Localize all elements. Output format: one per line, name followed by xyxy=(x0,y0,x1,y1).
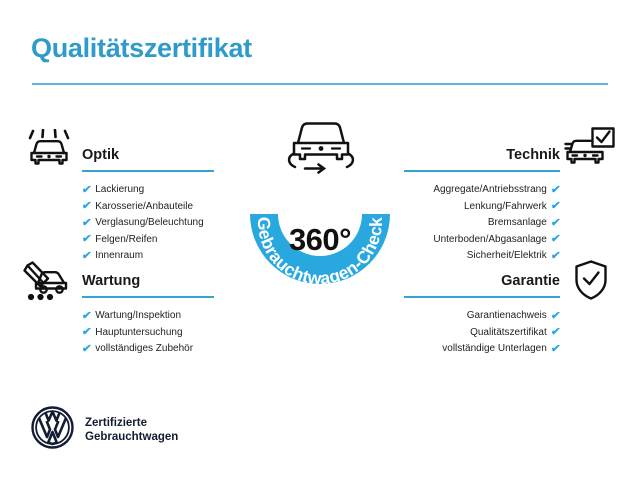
list-item: Aggregate/Antriebsstrang ✔ xyxy=(404,182,560,199)
check-icon: ✔ xyxy=(550,344,561,355)
section-header: Garantie xyxy=(404,272,560,302)
check-icon: ✔ xyxy=(81,218,92,229)
list-item: Lenkung/Fahrwerk ✔ xyxy=(404,199,560,216)
check-icon: ✔ xyxy=(81,311,92,322)
list-item-label: Felgen/Reifen xyxy=(95,232,157,249)
badge-ring-label: Gebrauchtwagen-Check xyxy=(254,217,386,289)
list-item-label: Lenkung/Fahrwerk xyxy=(464,199,547,216)
list-item-label: vollständiges Zubehör xyxy=(95,341,193,358)
list-item-label: Wartung/Inspektion xyxy=(95,308,181,325)
checklist: Garantienachweis ✔ Qualitätszertifikat ✔… xyxy=(404,308,560,358)
list-item-label: Verglasung/Beleuchtung xyxy=(95,215,203,232)
list-item: vollständige Unterlagen ✔ xyxy=(404,341,560,358)
list-item-label: Aggregate/Antriebsstrang xyxy=(433,182,546,199)
footer-line-1: Zertifizierte xyxy=(85,416,178,431)
list-item: ✔ vollständiges Zubehör xyxy=(82,341,232,358)
section-title: Optik xyxy=(82,146,232,164)
shield-check-icon xyxy=(573,259,609,306)
list-item: ✔ Verglasung/Beleuchtung xyxy=(82,215,232,232)
certificate-page: Qualitätszertifikat xyxy=(0,0,640,480)
section-divider xyxy=(82,170,214,172)
list-item: Qualitätszertifikat ✔ xyxy=(404,325,560,342)
check-icon: ✔ xyxy=(550,185,561,196)
volkswagen-logo xyxy=(31,406,74,454)
list-item-label: Karosserie/Anbauteile xyxy=(95,199,193,216)
list-item-label: Qualitätszertifikat xyxy=(470,325,547,342)
check-icon: ✔ xyxy=(550,251,561,262)
check-icon: ✔ xyxy=(81,327,92,338)
list-item: ✔ Wartung/Inspektion xyxy=(82,308,232,325)
list-item: ✔ Felgen/Reifen xyxy=(82,232,232,249)
svg-text:Gebrauchtwagen-Check: Gebrauchtwagen-Check xyxy=(254,217,386,289)
list-item-label: Hauptuntersuchung xyxy=(95,325,182,342)
list-item: Unterboden/Abgasanlage ✔ xyxy=(404,232,560,249)
check-icon: ✔ xyxy=(550,327,561,338)
section-title: Garantie xyxy=(404,272,560,290)
footer-text-group: Zertifizierte Gebrauchtwagen xyxy=(85,416,178,445)
checklist: ✔ Wartung/Inspektion ✔ Hauptuntersuchung… xyxy=(82,308,232,358)
car-shine-icon xyxy=(26,129,72,174)
checklist: Aggregate/Antriebsstrang ✔ Lenkung/Fahrw… xyxy=(404,182,560,265)
section-title: Technik xyxy=(404,146,560,164)
list-item-label: Innenraum xyxy=(95,248,143,265)
section-divider xyxy=(404,170,560,172)
footer-line-2: Gebrauchtwagen xyxy=(85,430,178,445)
check-icon: ✔ xyxy=(550,218,561,229)
check-icon: ✔ xyxy=(550,311,561,322)
section-technik: Technik Aggregate/Antriebsstrang ✔ Lenku… xyxy=(404,146,560,265)
car-checkbox-icon xyxy=(564,126,616,175)
list-item-label: Unterboden/Abgasanlage xyxy=(433,232,546,249)
section-header: Technik xyxy=(404,146,560,176)
list-item-label: Garantienachweis xyxy=(467,308,547,325)
section-optik: Optik ✔ Lackierung ✔ Karosserie/Anbautei… xyxy=(82,146,232,265)
section-title: Wartung xyxy=(82,272,232,290)
check-icon: ✔ xyxy=(81,234,92,245)
list-item: Garantienachweis ✔ xyxy=(404,308,560,325)
list-item-label: Bremsanlage xyxy=(488,215,547,232)
list-item: ✔ Hauptuntersuchung xyxy=(82,325,232,342)
badge-360-gebrauchtwagen-check: Gebrauchtwagen-Check 360° xyxy=(232,152,408,312)
section-header: Wartung xyxy=(82,272,232,302)
section-wartung: Wartung ✔ Wartung/Inspektion ✔ Hauptunte… xyxy=(82,272,232,358)
car-wrench-icon xyxy=(22,259,70,308)
list-item: ✔ Lackierung xyxy=(82,182,232,199)
section-garantie: Garantie Garantienachweis ✔ Qualitätszer… xyxy=(404,272,560,358)
check-icon: ✔ xyxy=(81,201,92,212)
check-icon: ✔ xyxy=(81,185,92,196)
page-title: Qualitätszertifikat xyxy=(31,33,252,64)
list-item: Sicherheit/Elektrik ✔ xyxy=(404,248,560,265)
header-divider xyxy=(32,83,608,85)
badge-ring: Gebrauchtwagen-Check xyxy=(232,152,408,312)
checklist: ✔ Lackierung ✔ Karosserie/Anbauteile ✔ V… xyxy=(82,182,232,265)
section-divider xyxy=(404,296,560,298)
footer: Zertifizierte Gebrauchtwagen xyxy=(31,406,178,454)
list-item: ✔ Karosserie/Anbauteile xyxy=(82,199,232,216)
section-divider xyxy=(82,296,214,298)
check-icon: ✔ xyxy=(81,251,92,262)
check-icon: ✔ xyxy=(81,344,92,355)
list-item-label: Lackierung xyxy=(95,182,144,199)
check-icon: ✔ xyxy=(550,234,561,245)
list-item-label: vollständige Unterlagen xyxy=(442,341,547,358)
check-icon: ✔ xyxy=(550,201,561,212)
list-item: Bremsanlage ✔ xyxy=(404,215,560,232)
list-item-label: Sicherheit/Elektrik xyxy=(467,248,547,265)
list-item: ✔ Innenraum xyxy=(82,248,232,265)
section-header: Optik xyxy=(82,146,232,176)
